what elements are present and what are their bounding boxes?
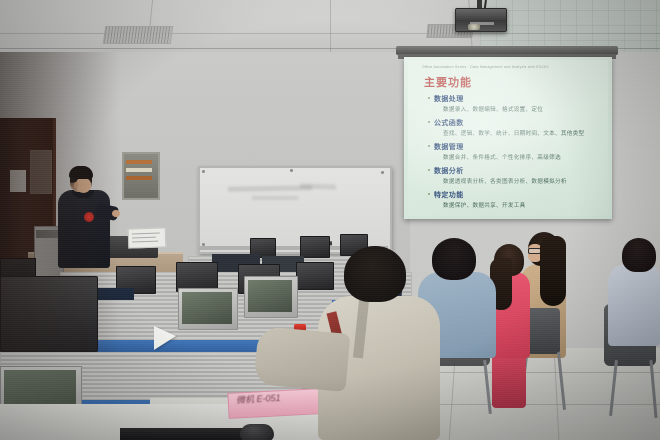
paper-note — [154, 326, 176, 350]
whiteboard-screw — [202, 170, 205, 173]
podium-papers — [128, 227, 167, 248]
student-blue-shirt-head — [432, 238, 476, 280]
wall-shadow — [0, 52, 120, 352]
ceiling-seam-vertical — [330, 0, 331, 52]
monitor-screen — [182, 292, 232, 324]
student-front-grey-jacket-head — [344, 246, 406, 302]
student-pink-coat-legs — [492, 350, 526, 408]
wall-picture-band — [126, 160, 152, 164]
keyboard[interactable] — [120, 428, 250, 440]
screen-glare — [408, 60, 608, 216]
classroom-photo: Office Automation Series · Data Manageme… — [0, 0, 660, 440]
whiteboard-screw — [290, 169, 293, 172]
monitor — [296, 262, 334, 290]
projector-lens — [468, 24, 480, 30]
student-right-light-shirt-body — [608, 264, 660, 346]
monitor-screen — [248, 280, 292, 312]
student-right-light-shirt-head — [622, 238, 656, 272]
whiteboard-writing — [252, 196, 298, 200]
desk-label-text: 微机 E-051 — [236, 391, 281, 406]
computer-mouse[interactable] — [240, 424, 274, 440]
monitor — [300, 236, 330, 258]
wall-picture-band — [126, 168, 152, 172]
student-tan-coat-hair — [540, 236, 566, 306]
wall-picture-band — [126, 176, 152, 180]
student-front-grey-jacket-arm — [254, 326, 351, 392]
ceiling-vent-grille — [103, 26, 174, 44]
whiteboard-screw — [381, 171, 384, 174]
projector-icon — [455, 8, 507, 32]
